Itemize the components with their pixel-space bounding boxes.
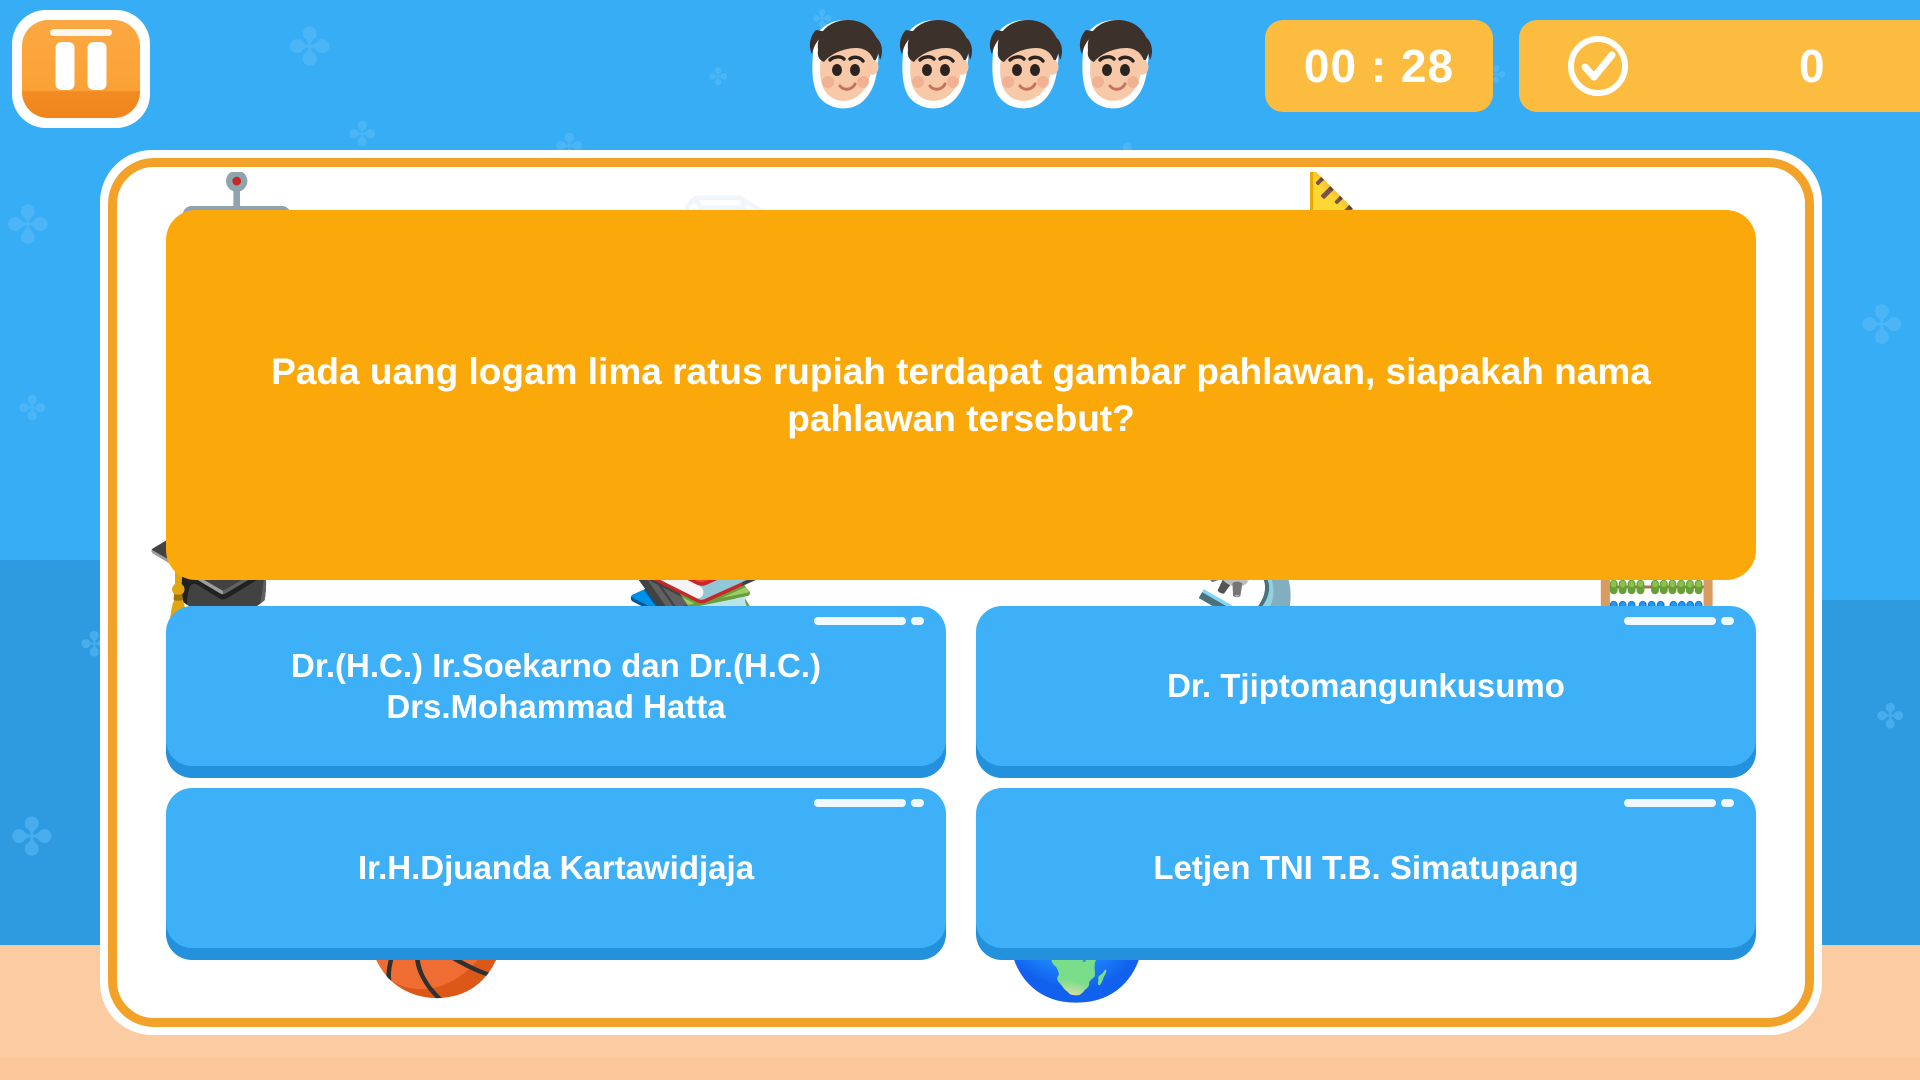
button-highlight [1624,799,1716,807]
score-value: 0 [1799,39,1825,93]
answer-option-d[interactable]: Letjen TNI T.B. Simatupang [976,788,1756,948]
button-highlight [1624,617,1716,625]
player-head-icon [980,14,1064,114]
answer-option-a[interactable]: Dr.(H.C.) Ir.Soekarno dan Dr.(H.C.) Drs.… [166,606,946,766]
button-highlight-dot [911,799,924,807]
timer-value: 00 : 28 [1304,39,1454,93]
quiz-card: 🤖 ✏ 📐 🎓 📚 🔬 🧮 🏀 🌍 Pada uang logam lima r… [100,150,1822,1035]
question-text: Pada uang logam lima ratus rupiah terdap… [256,348,1666,443]
player-head-icon [800,14,884,114]
pause-button-face [22,20,140,118]
player-head-icon [1070,14,1154,114]
pause-button[interactable] [12,10,150,128]
answer-option-d-label: Letjen TNI T.B. Simatupang [1153,847,1578,888]
pause-button-highlight [50,29,112,36]
question-panel: Pada uang logam lima ratus rupiah terdap… [166,210,1756,580]
answer-option-a-label: Dr.(H.C.) Ir.Soekarno dan Dr.(H.C.) Drs.… [208,645,904,728]
score-panel: 0 [1519,20,1920,112]
answer-option-c[interactable]: Ir.H.Djuanda Kartawidjaja [166,788,946,948]
pause-icon [56,42,107,90]
lives-tracker [800,14,1154,114]
game-screen: ✤ ✤ ✤ ✤ ✤ ✤ ✤ ✤ ✤ ✤ ✤ ✤ ✤ ✤ [0,0,1920,1080]
button-highlight [814,617,906,625]
button-highlight-dot [1721,617,1734,625]
timer-panel: 00 : 28 [1265,20,1493,112]
background-ground-shadow [0,1058,1920,1080]
button-highlight-dot [911,617,924,625]
quiz-card-border: 🤖 ✏ 📐 🎓 📚 🔬 🧮 🏀 🌍 Pada uang logam lima r… [108,158,1814,1027]
hud-bar: 00 : 28 0 [0,0,1920,140]
answer-options: Dr.(H.C.) Ir.Soekarno dan Dr.(H.C.) Drs.… [166,606,1756,948]
player-head-icon [890,14,974,114]
button-highlight [814,799,906,807]
answer-option-c-label: Ir.H.Djuanda Kartawidjaja [358,847,754,888]
answer-option-b-label: Dr. Tjiptomangunkusumo [1167,665,1565,706]
quiz-card-body: 🤖 ✏ 📐 🎓 📚 🔬 🧮 🏀 🌍 Pada uang logam lima r… [122,172,1800,1013]
answer-option-b[interactable]: Dr. Tjiptomangunkusumo [976,606,1756,766]
check-circle-icon [1565,33,1631,99]
button-highlight-dot [1721,799,1734,807]
